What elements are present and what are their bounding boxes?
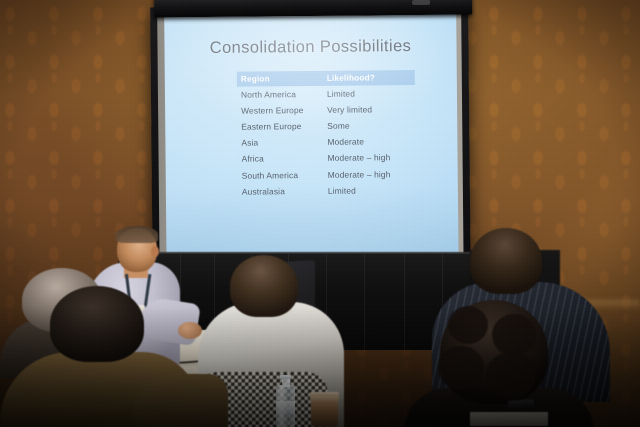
coffee-cup: [310, 392, 339, 427]
conference-presentation-photo: Consolidation Possibilities Region Likel…: [0, 0, 640, 427]
cell-region: Africa: [238, 153, 324, 164]
slide-footer-text: [166, 210, 458, 213]
presenter-hair: [116, 226, 158, 243]
cell-likelihood: Moderate – high: [324, 152, 416, 163]
cell-region: South America: [238, 169, 324, 180]
cell-likelihood: Limited: [323, 88, 415, 99]
audience-white-shirt-head: [230, 255, 298, 317]
table-row: Eastern Europe Some: [237, 117, 415, 135]
table-row: Asia Moderate: [237, 133, 415, 151]
presenter-ear: [151, 246, 159, 257]
cell-region: Western Europe: [237, 105, 323, 116]
projection-screen: Consolidation Possibilities Region Likel…: [150, 0, 475, 268]
hair-curl: [438, 346, 484, 390]
slide-title: Consolidation Possibilities: [164, 37, 456, 59]
audience-tan-jacket-shoulder: [132, 374, 228, 427]
water-bottle: [276, 375, 295, 427]
slide-table: Region Likelihood? North America Limited…: [237, 70, 416, 200]
papers-right-table: [470, 412, 548, 426]
column-header-likelihood: Likelihood?: [323, 73, 415, 83]
table-row: South America Moderate – high: [238, 165, 416, 183]
cell-likelihood: Moderate: [323, 136, 415, 147]
cell-likelihood: Limited: [324, 185, 416, 196]
cell-likelihood: Some: [323, 120, 415, 131]
screen-surface: Consolidation Possibilities Region Likel…: [164, 14, 458, 261]
cell-region: Australasia: [238, 186, 324, 197]
audience-pinstripe-head: [470, 228, 542, 294]
table-row: Australasia Limited: [238, 182, 416, 200]
hair-curl: [492, 314, 536, 356]
cell-region: Eastern Europe: [237, 121, 323, 132]
cell-region: Asia: [237, 137, 323, 148]
presentation-slide: Consolidation Possibilities Region Likel…: [164, 14, 458, 261]
mobile-phone: [508, 399, 535, 410]
screen-roller-casing: [154, 0, 472, 18]
table-row: Western Europe Very limited: [237, 101, 415, 119]
presenter-hand: [178, 322, 202, 339]
cell-likelihood: Moderate – high: [324, 169, 416, 180]
column-header-region: Region: [237, 74, 323, 84]
hair-curl: [486, 352, 536, 398]
cell-region: North America: [237, 88, 323, 99]
table-row: Africa Moderate – high: [238, 149, 416, 167]
cell-likelihood: Very limited: [323, 104, 415, 115]
hair-curl: [448, 306, 488, 344]
table-row: North America Limited: [237, 85, 415, 103]
audience-tan-jacket-head: [50, 286, 144, 362]
